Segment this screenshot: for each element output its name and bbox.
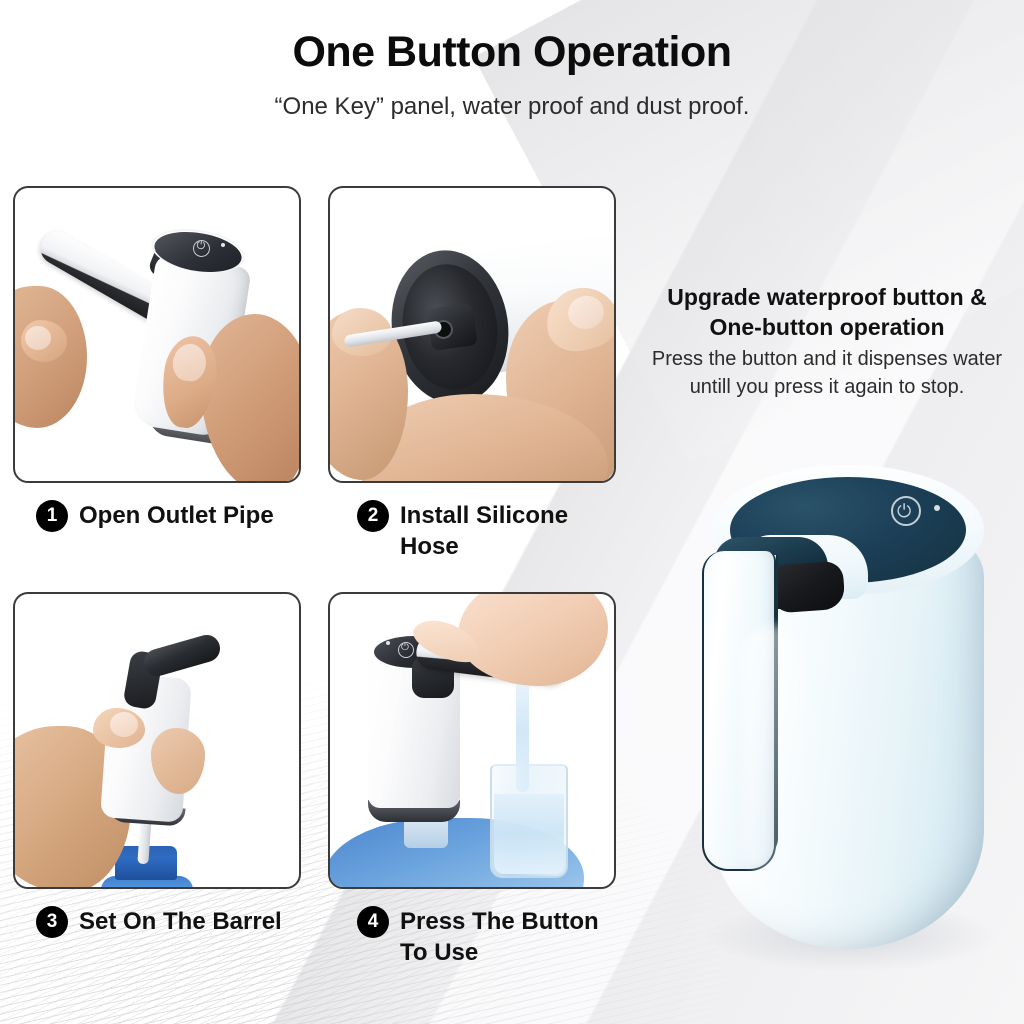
hero-gloss-highlight	[742, 625, 804, 875]
step-caption-3: 3 Set On The Barrel	[36, 906, 282, 938]
power-icon	[891, 496, 921, 526]
right-hand	[201, 314, 301, 483]
step-caption-4: 4 Press The Button To Use	[357, 906, 620, 968]
led-indicator	[934, 505, 940, 511]
step-number-badge: 2	[357, 500, 389, 532]
step-photo-4	[328, 592, 616, 889]
glass-water	[494, 794, 564, 874]
step-number-badge: 1	[36, 500, 68, 532]
page-subtitle: “One Key” panel, water proof and dust pr…	[0, 93, 1024, 121]
step-label: Set On The Barrel	[79, 906, 282, 938]
scene-open-outlet-pipe	[15, 188, 299, 481]
led-indicator	[221, 243, 225, 247]
step-photo-2	[328, 186, 616, 483]
scene-set-on-barrel	[15, 594, 299, 887]
step-label: Press The Button To Use	[400, 906, 620, 968]
feature-heading: Upgrade waterproof button & One-button o…	[638, 283, 1016, 343]
step-label: Install Silicone Hose	[400, 500, 620, 562]
outlet-pipe-arm	[141, 632, 223, 679]
step-photo-1	[13, 186, 301, 483]
hero-product-image	[690, 455, 1010, 975]
step-caption-1: 1 Open Outlet Pipe	[36, 500, 274, 532]
scene-install-silicone-hose	[330, 188, 614, 481]
scene-press-button	[330, 594, 614, 887]
led-indicator	[386, 641, 390, 645]
step-caption-2: 2 Install Silicone Hose	[357, 500, 620, 562]
feature-description: Press the button and it dispenses water …	[648, 345, 1006, 402]
infographic-page: One Button Operation “One Key” panel, wa…	[0, 0, 1024, 1024]
step-photo-3	[13, 592, 301, 889]
power-icon	[398, 642, 414, 658]
step-number-badge: 4	[357, 906, 389, 938]
page-title: One Button Operation	[0, 28, 1024, 77]
hand-thumbnail	[110, 712, 138, 737]
step-label: Open Outlet Pipe	[79, 500, 274, 532]
left-hand-fingernail	[25, 326, 51, 350]
step-number-badge: 3	[36, 906, 68, 938]
hero-handle-tip	[770, 561, 845, 614]
